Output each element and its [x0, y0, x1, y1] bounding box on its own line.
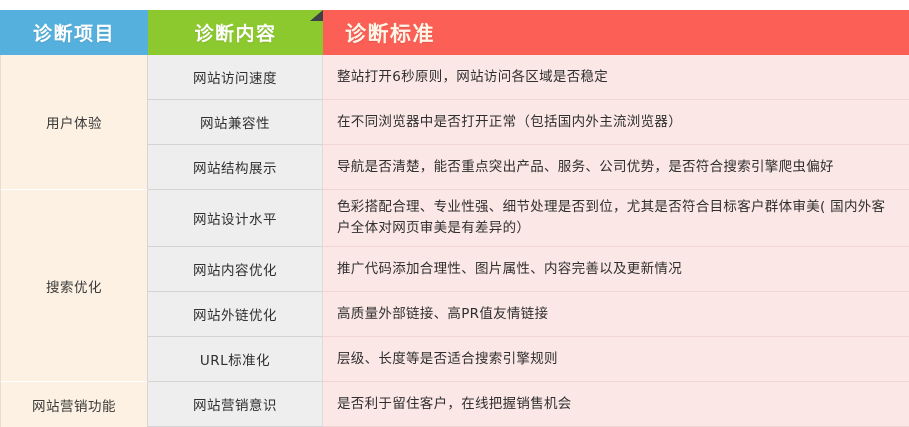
- content-cell: URL标准化: [148, 337, 323, 382]
- standard-text: 推广代码添加合理性、图片属性、内容完善以及更新情况: [337, 259, 682, 280]
- project-group-cell: 用户体验: [1, 55, 148, 190]
- content-label: 网站外链优化: [193, 304, 277, 324]
- table-body: 用户体验 搜索优化 网站营销功能 网站访问速度 网站兼容性 网站结构展示 网站设…: [0, 55, 909, 427]
- project-group-cell: 搜索优化: [1, 190, 148, 382]
- content-label: 网站结构展示: [193, 157, 277, 177]
- project-group-label: 搜索优化: [46, 276, 102, 296]
- header-label-project: 诊断项目: [33, 19, 115, 46]
- content-cell: 网站访问速度: [148, 55, 323, 100]
- content-label: URL标准化: [200, 349, 270, 369]
- header-cell-standard: 诊断标准: [323, 10, 909, 55]
- standard-cell: 导航是否清楚，能否重点突出产品、服务、公司优势，是否符合搜索引擎爬虫偏好: [323, 145, 909, 190]
- content-label: 网站内容优化: [193, 259, 277, 279]
- standard-text: 层级、长度等是否适合搜索引擎规则: [337, 349, 558, 370]
- standard-text: 是否利于留住客户，在线把握销售机会: [337, 394, 572, 415]
- column-standard: 整站打开6秒原则，网站访问各区域是否稳定 在不同浏览器中是否打开正常（包括国内外…: [323, 55, 909, 427]
- ribbon-fold-icon: [310, 10, 323, 21]
- content-cell: 网站设计水平: [148, 190, 323, 247]
- content-cell: 网站内容优化: [148, 247, 323, 292]
- standard-cell: 是否利于留住客户，在线把握销售机会: [323, 382, 909, 427]
- standard-cell: 层级、长度等是否适合搜索引擎规则: [323, 337, 909, 382]
- header-cell-project: 诊断项目: [0, 10, 148, 55]
- project-group-label: 用户体验: [46, 112, 102, 132]
- content-label: 网站设计水平: [193, 208, 277, 228]
- column-project: 用户体验 搜索优化 网站营销功能: [0, 55, 148, 427]
- project-group-label: 网站营销功能: [32, 395, 116, 415]
- content-cell: 网站兼容性: [148, 100, 323, 145]
- standard-cell: 在不同浏览器中是否打开正常（包括国内外主流浏览器）: [323, 100, 909, 145]
- content-cell: 网站结构展示: [148, 145, 323, 190]
- content-label: 网站营销意识: [193, 394, 277, 414]
- column-content: 网站访问速度 网站兼容性 网站结构展示 网站设计水平 网站内容优化 网站外链优化…: [148, 55, 323, 427]
- project-group-cell: 网站营销功能: [1, 382, 148, 427]
- standard-text: 在不同浏览器中是否打开正常（包括国内外主流浏览器）: [337, 112, 682, 133]
- standard-text: 整站打开6秒原则，网站访问各区域是否稳定: [337, 67, 608, 88]
- content-cell: 网站营销意识: [148, 382, 323, 427]
- content-label: 网站访问速度: [193, 67, 277, 87]
- table-header-row: 诊断项目 诊断内容 诊断标准: [0, 10, 909, 55]
- standard-text: 高质量外部链接、高PR值友情链接: [337, 304, 548, 325]
- content-cell: 网站外链优化: [148, 292, 323, 337]
- diagnosis-criteria-table: 诊断项目 诊断内容 诊断标准 用户体验 搜索优化 网站营销功能 网站访问速度: [0, 0, 909, 418]
- header-label-standard: 诊断标准: [345, 18, 435, 48]
- content-label: 网站兼容性: [200, 112, 270, 132]
- standard-cell: 整站打开6秒原则，网站访问各区域是否稳定: [323, 55, 909, 100]
- header-label-content: 诊断内容: [194, 19, 276, 46]
- standard-text: 导航是否清楚，能否重点突出产品、服务、公司优势，是否符合搜索引擎爬虫偏好: [337, 157, 834, 178]
- standard-text: 色彩搭配合理、专业性强、细节处理是否到位，尤其是否符合目标客户群体审美( 国内外…: [337, 197, 899, 239]
- standard-cell: 高质量外部链接、高PR值友情链接: [323, 292, 909, 337]
- header-cell-content: 诊断内容: [148, 10, 323, 55]
- standard-cell: 色彩搭配合理、专业性强、细节处理是否到位，尤其是否符合目标客户群体审美( 国内外…: [323, 190, 909, 247]
- standard-cell: 推广代码添加合理性、图片属性、内容完善以及更新情况: [323, 247, 909, 292]
